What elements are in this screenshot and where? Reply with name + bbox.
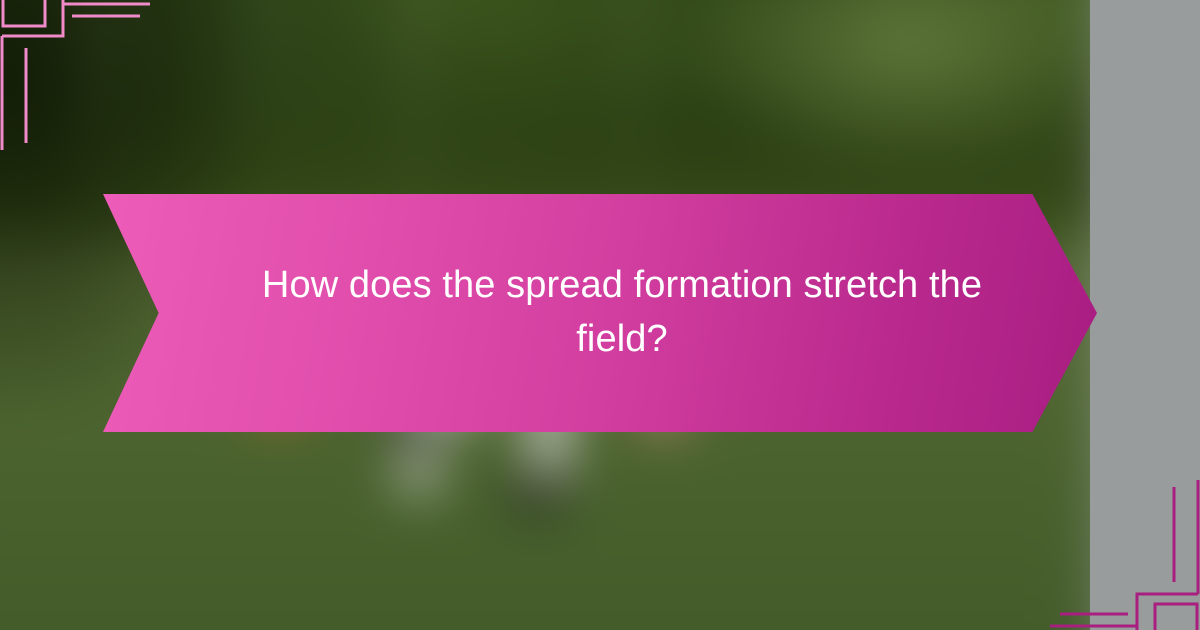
share-card: How does the spread formation stretch th… — [0, 0, 1200, 630]
corner-ornament-bottom-right — [1040, 480, 1200, 630]
background-haze — [679, 0, 1128, 195]
headline-text: How does the spread formation stretch th… — [242, 259, 1002, 367]
field-post — [630, 0, 639, 225]
corner-ornament-top-left — [0, 0, 160, 150]
headline-banner: How does the spread formation stretch th… — [103, 194, 1097, 432]
field-post — [258, 0, 266, 165]
player-cleat — [508, 478, 568, 508]
